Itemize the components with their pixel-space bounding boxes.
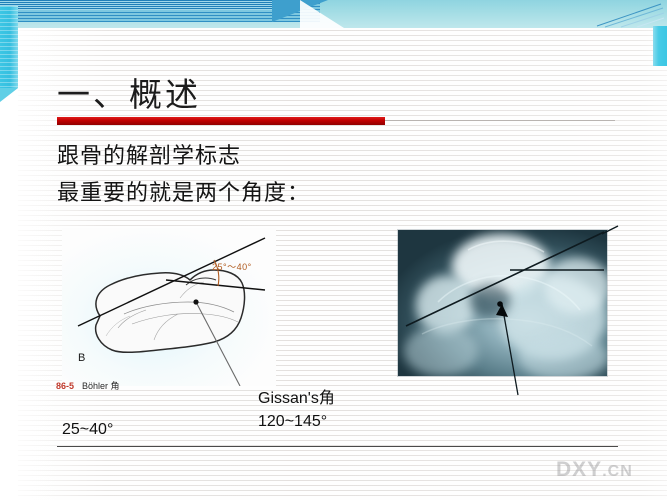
- watermark-brand: DXY: [556, 458, 602, 481]
- figure-caption-number: 86-5: [56, 381, 74, 391]
- slide-canvas: 一、概述 跟骨的解剖学标志 最重要的就是两个角度：: [0, 0, 667, 500]
- top-banner-stripes-dense: [0, 0, 300, 10]
- bohler-figure-caption: 86-5Böhler 角: [56, 379, 120, 392]
- title-underline-tail: [385, 120, 615, 121]
- body-text-line-2: 最重要的就是两个角度：: [57, 175, 310, 207]
- bohler-angle-diagram: 25°～40° B: [62, 228, 276, 386]
- figure-caption-name: Böhler 角: [82, 381, 120, 391]
- bohler-angle-annotation: 25°～40°: [212, 260, 252, 273]
- title-underline-bar: [57, 117, 385, 125]
- corner-ribbon-decoration: [591, 2, 665, 28]
- bohler-angle-value: 25~40°: [62, 421, 113, 439]
- left-accent-tab-stripes: [0, 6, 18, 88]
- diagram-panel-label: B: [78, 352, 85, 364]
- left-accent-tab-notch: [0, 88, 18, 102]
- calcaneus-outline-svg: [62, 228, 276, 386]
- top-banner-wedge-highlight: [300, 0, 344, 28]
- watermark: DXY.CN: [556, 458, 633, 482]
- page-title: 一、概述: [57, 68, 201, 116]
- gissan-angle-label: Gissan's角: [258, 384, 335, 408]
- bottom-divider: [57, 446, 618, 447]
- gissan-angle-value: 120~145°: [258, 413, 327, 431]
- xray-annotation-svg: [398, 230, 607, 376]
- calcaneus-xray-image: [398, 230, 607, 376]
- watermark-domain: .CN: [602, 463, 633, 480]
- body-text-line-1: 跟骨的解剖学标志: [57, 138, 241, 170]
- right-accent-tab: [653, 26, 667, 66]
